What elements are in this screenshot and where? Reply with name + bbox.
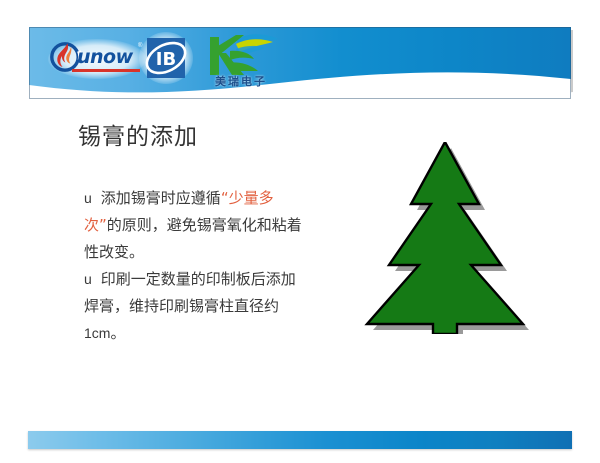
ib-logo: IB [143,35,189,81]
fir-tree-graphic [363,142,541,334]
slide-canvas: unow ® IB 美瑞电子 锡膏的添加 u添加锡 [0,0,600,463]
body-copy: u添加锡膏时应遵循“少量多次”的原则，避免锡膏氧化和粘着性改变。 u印刷一定数量… [84,185,308,347]
sunow-underline [72,69,140,72]
meirui-logo-mark [196,31,280,79]
bullet-glyph: u [84,190,92,206]
bullet-glyph: u [84,271,92,287]
bullet-2-seg-3: 。 [110,324,125,342]
fir-tree-icon [363,142,541,334]
sunow-logo: unow ® [48,37,146,81]
bullet-1-seg-1: 添加锡膏时应遵循 [101,189,221,207]
ib-logo-mark: IB [143,35,189,81]
sunow-wordmark: unow [77,48,133,67]
bullet-1-seg-3: 的原则，避免锡膏氧化和粘着性改变。 [84,216,302,261]
svg-text:IB: IB [156,49,176,70]
meirui-chinese-name: 美瑞电子 [202,73,280,89]
bullet-item-1: u添加锡膏时应遵循“少量多次”的原则，避免锡膏氧化和粘着性改变。 [84,185,308,266]
bullet-item-2: u印刷一定数量的印制板后添加焊膏，维持印刷锡膏柱直径约1cm。 [84,266,308,347]
footer-accent-bar [28,431,572,449]
page-title: 锡膏的添加 [78,117,198,151]
bullet-2-measure: 1cm [84,325,110,341]
meirui-logo: 美瑞电子 [196,31,280,89]
bullet-2-seg-1: 印刷一定数量的印制板后添加焊膏，维持印刷锡膏柱直径约 [84,270,296,315]
